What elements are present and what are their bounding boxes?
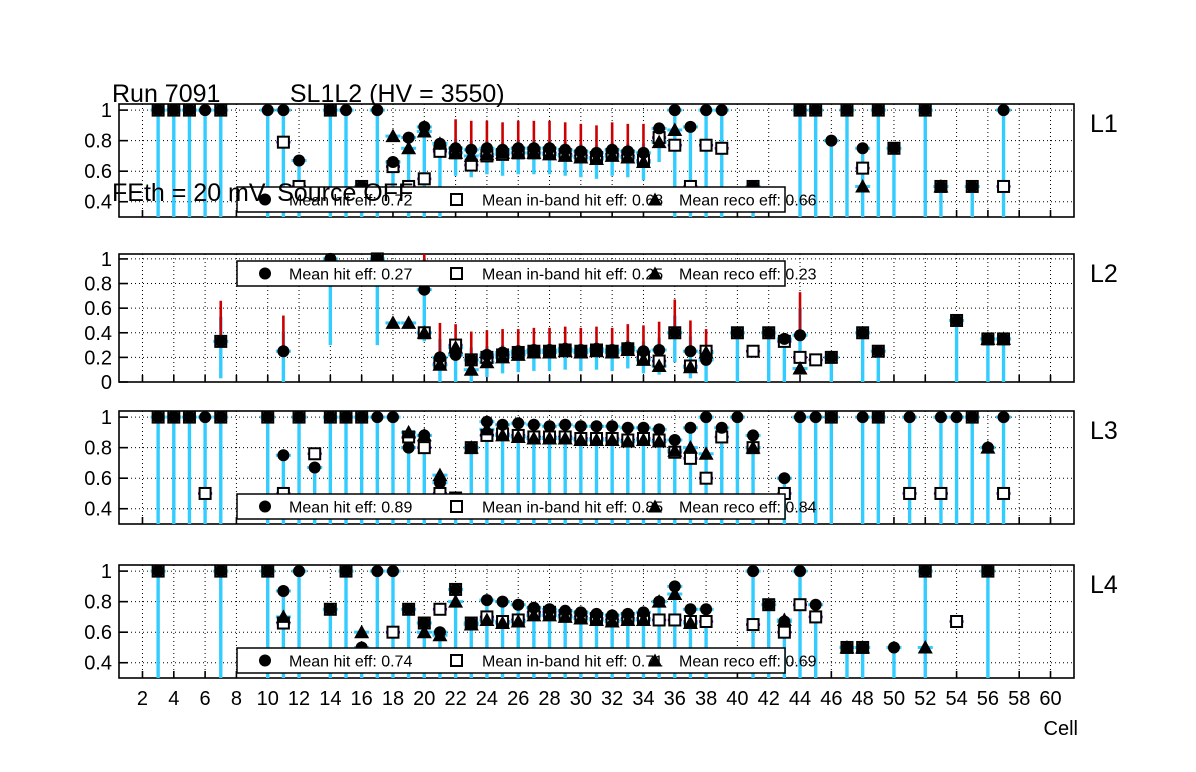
marker-filled-circle xyxy=(606,144,618,156)
y-tick-label: 0.8 xyxy=(84,438,112,460)
x-tick-label: 30 xyxy=(570,688,592,710)
marker-filled-circle xyxy=(465,442,477,454)
panel-l3: 0.40.60.81Mean hit eff: 0.89Mean in-band… xyxy=(84,407,1074,524)
legend-hit-label: Mean hit eff: 0.89 xyxy=(289,500,412,517)
marker-open-square xyxy=(685,453,696,464)
marker-filled-circle xyxy=(622,422,634,434)
marker-filled-circle xyxy=(434,477,446,489)
marker-filled-circle xyxy=(528,142,540,154)
marker-filled-circle xyxy=(951,411,963,423)
marker-filled-circle xyxy=(465,354,477,366)
y-tick-label: 1 xyxy=(101,407,112,429)
marker-filled-circle xyxy=(309,462,321,474)
marker-open-square xyxy=(309,448,320,459)
marker-filled-circle xyxy=(669,327,681,339)
marker-filled-circle xyxy=(810,411,822,423)
marker-filled-circle xyxy=(450,583,462,595)
marker-filled-circle xyxy=(277,585,289,597)
y-tick-label: 1 xyxy=(101,100,112,122)
y-tick-label: 0 xyxy=(101,372,112,394)
marker-filled-circle xyxy=(340,565,352,577)
marker-filled-circle xyxy=(262,411,274,423)
marker-filled-circle xyxy=(481,594,493,606)
y-tick-label: 0.8 xyxy=(84,131,112,153)
x-tick-label: 58 xyxy=(1008,688,1030,710)
y-tick-label: 0.8 xyxy=(84,274,112,296)
marker-filled-circle xyxy=(183,411,195,423)
marker-filled-circle xyxy=(277,449,289,461)
x-tick-label: 4 xyxy=(168,688,179,710)
marker-filled-circle xyxy=(966,411,978,423)
marker-filled-circle xyxy=(653,596,665,608)
marker-filled-circle xyxy=(716,104,728,116)
marker-filled-circle xyxy=(575,420,587,432)
x-tick-label: 52 xyxy=(914,688,936,710)
marker-filled-circle xyxy=(450,349,462,361)
marker-filled-circle xyxy=(512,142,524,154)
x-tick-label: 44 xyxy=(789,688,811,710)
marker-filled-circle xyxy=(825,351,837,363)
marker-filled-circle xyxy=(215,335,227,347)
marker-open-square xyxy=(200,488,211,499)
marker-filled-circle xyxy=(497,419,509,431)
marker-filled-circle xyxy=(559,605,571,617)
marker-filled-circle xyxy=(403,442,415,454)
x-tick-label: 18 xyxy=(382,688,404,710)
marker-filled-circle xyxy=(825,135,837,147)
marker-filled-circle xyxy=(606,420,618,432)
marker-filled-circle xyxy=(356,411,368,423)
marker-filled-circle xyxy=(512,417,524,429)
marker-filled-circle xyxy=(544,420,556,432)
marker-filled-circle xyxy=(387,565,399,577)
x-tick-label: 56 xyxy=(977,688,999,710)
marker-open-square xyxy=(387,627,398,638)
legend-l3: Mean hit eff: 0.89Mean in-band hit eff: … xyxy=(237,494,817,519)
marker-filled-circle xyxy=(653,344,665,356)
marker-open-square xyxy=(810,611,821,622)
marker-filled-circle xyxy=(669,580,681,592)
marker-open-square xyxy=(810,354,821,365)
marker-filled-circle xyxy=(731,411,743,423)
marker-open-square xyxy=(748,619,759,630)
legend-circle-icon xyxy=(259,501,271,513)
marker-filled-circle xyxy=(591,420,603,432)
marker-filled-circle xyxy=(293,411,305,423)
marker-filled-circle xyxy=(857,142,869,154)
marker-filled-circle xyxy=(716,422,728,434)
x-tick-label: 38 xyxy=(695,688,717,710)
marker-filled-circle xyxy=(262,565,274,577)
x-tick-label: 22 xyxy=(444,688,466,710)
y-tick-label: 0.6 xyxy=(84,622,112,644)
marker-filled-circle xyxy=(622,608,634,620)
marker-filled-circle xyxy=(778,333,790,345)
marker-filled-circle xyxy=(794,104,806,116)
legend-square-icon xyxy=(451,655,462,666)
marker-open-square xyxy=(669,614,680,625)
marker-filled-circle xyxy=(763,327,775,339)
marker-open-square xyxy=(669,140,680,151)
legend-inband-label: Mean in-band hit eff: 0.68 xyxy=(482,193,663,210)
marker-filled-circle xyxy=(481,349,493,361)
marker-filled-circle xyxy=(747,565,759,577)
y-tick-label: 0.6 xyxy=(84,161,112,183)
y-tick-label: 0.4 xyxy=(84,499,112,521)
marker-filled-circle xyxy=(591,147,603,159)
marker-filled-circle xyxy=(340,411,352,423)
marker-open-square xyxy=(716,143,727,154)
x-tick-label: 6 xyxy=(200,688,211,710)
marker-open-square xyxy=(951,616,962,627)
marker-open-square xyxy=(904,488,915,499)
x-tick-label: 32 xyxy=(601,688,623,710)
marker-filled-circle xyxy=(763,599,775,611)
marker-open-square xyxy=(434,604,445,615)
marker-filled-circle xyxy=(810,104,822,116)
title-line-1: Run 7091 SL1L2 (HV = 3550) xyxy=(112,78,505,111)
marker-filled-circle xyxy=(637,422,649,434)
marker-filled-circle xyxy=(418,617,430,629)
marker-filled-circle xyxy=(825,411,837,423)
marker-filled-circle xyxy=(606,344,618,356)
marker-filled-circle xyxy=(778,472,790,484)
marker-filled-circle xyxy=(622,342,634,354)
x-tick-label: 10 xyxy=(257,688,279,710)
marker-filled-circle xyxy=(794,411,806,423)
marker-filled-circle xyxy=(794,565,806,577)
marker-filled-circle xyxy=(888,142,900,154)
x-tick-label: 24 xyxy=(476,688,498,710)
marker-filled-circle xyxy=(919,104,931,116)
marker-filled-circle xyxy=(794,329,806,341)
x-tick-label: 34 xyxy=(632,688,654,710)
marker-filled-circle xyxy=(872,411,884,423)
marker-filled-circle xyxy=(465,617,477,629)
x-tick-label: 42 xyxy=(758,688,780,710)
x-tick-label: 14 xyxy=(319,688,341,710)
marker-filled-circle xyxy=(575,145,587,157)
marker-filled-circle xyxy=(544,344,556,356)
marker-filled-circle xyxy=(684,603,696,615)
marker-filled-circle xyxy=(497,346,509,358)
x-tick-label: 46 xyxy=(820,688,842,710)
marker-filled-circle xyxy=(700,354,712,366)
panel-label-l1: L1 xyxy=(1090,110,1118,138)
x-tick-label: 12 xyxy=(288,688,310,710)
marker-open-square xyxy=(701,473,712,484)
marker-filled-circle xyxy=(497,596,509,608)
marker-filled-circle xyxy=(998,104,1010,116)
x-tick-label: 2 xyxy=(137,688,148,710)
y-tick-label: 0.6 xyxy=(84,468,112,490)
marker-open-square xyxy=(998,181,1009,192)
marker-filled-circle xyxy=(575,344,587,356)
marker-filled-circle xyxy=(841,641,853,653)
panel-label-l4: L4 xyxy=(1090,571,1118,599)
marker-filled-circle xyxy=(857,327,869,339)
marker-filled-circle xyxy=(919,565,931,577)
x-tick-label: 20 xyxy=(413,688,435,710)
marker-filled-circle xyxy=(152,411,164,423)
marker-filled-circle xyxy=(559,343,571,355)
marker-filled-circle xyxy=(810,599,822,611)
marker-filled-circle xyxy=(731,327,743,339)
marker-filled-circle xyxy=(935,411,947,423)
legend-reco-label: Mean reco eff: 0.66 xyxy=(679,193,817,210)
title-line-2: FEth = 20 mV, Source OFF xyxy=(112,177,505,210)
marker-filled-circle xyxy=(371,411,383,423)
marker-filled-circle xyxy=(637,147,649,159)
x-tick-label: 54 xyxy=(945,688,967,710)
marker-filled-circle xyxy=(700,104,712,116)
marker-open-square xyxy=(779,627,790,638)
marker-filled-circle xyxy=(528,602,540,614)
marker-filled-circle xyxy=(637,345,649,357)
marker-filled-circle xyxy=(669,434,681,446)
marker-filled-circle xyxy=(387,411,399,423)
marker-filled-circle xyxy=(653,423,665,435)
marker-filled-circle xyxy=(371,565,383,577)
legend-hit-label: Mean hit eff: 0.74 xyxy=(289,654,412,671)
marker-filled-circle xyxy=(528,419,540,431)
marker-open-square xyxy=(935,488,946,499)
marker-filled-circle xyxy=(324,411,336,423)
legend-reco-label: Mean reco eff: 0.84 xyxy=(679,500,817,517)
plot-canvas: Run 7091 SL1L2 (HV = 3550) FEth = 20 mV,… xyxy=(0,0,1196,772)
marker-open-square xyxy=(701,616,712,627)
legend-reco-label: Mean reco eff: 0.23 xyxy=(679,267,817,284)
marker-filled-circle xyxy=(544,603,556,615)
marker-filled-circle xyxy=(559,419,571,431)
marker-filled-circle xyxy=(434,626,446,638)
x-tick-label: 36 xyxy=(664,688,686,710)
marker-filled-circle xyxy=(841,104,853,116)
y-tick-label: 0.4 xyxy=(84,653,112,675)
marker-filled-circle xyxy=(998,411,1010,423)
legend-reco-label: Mean reco eff: 0.69 xyxy=(679,654,817,671)
legend-inband-label: Mean in-band hit eff: 0.25 xyxy=(482,267,663,284)
y-tick-label: 0.4 xyxy=(84,192,112,214)
marker-filled-circle xyxy=(324,603,336,615)
marker-filled-circle xyxy=(403,603,415,615)
x-tick-label: 28 xyxy=(538,688,560,710)
marker-open-square xyxy=(701,140,712,151)
marker-filled-circle xyxy=(591,608,603,620)
marker-filled-circle xyxy=(700,411,712,423)
legend-inband-label: Mean in-band hit eff: 0.85 xyxy=(482,500,663,517)
marker-filled-circle xyxy=(904,411,916,423)
y-tick-label: 0.2 xyxy=(84,347,112,369)
marker-filled-circle xyxy=(512,345,524,357)
marker-filled-circle xyxy=(606,609,618,621)
marker-filled-circle xyxy=(277,345,289,357)
marker-filled-circle xyxy=(215,565,227,577)
marker-filled-circle xyxy=(935,180,947,192)
y-tick-label: 0.6 xyxy=(84,298,112,320)
marker-filled-circle xyxy=(872,345,884,357)
marker-filled-circle xyxy=(434,351,446,363)
x-tick-label: 40 xyxy=(726,688,748,710)
marker-open-square xyxy=(748,346,759,357)
marker-filled-circle xyxy=(951,314,963,326)
marker-filled-circle xyxy=(888,641,900,653)
panel-label-l2: L2 xyxy=(1090,260,1118,288)
marker-filled-circle xyxy=(199,411,211,423)
legend-square-icon xyxy=(451,501,462,512)
marker-filled-circle xyxy=(168,411,180,423)
marker-filled-circle xyxy=(966,180,978,192)
marker-filled-circle xyxy=(559,144,571,156)
marker-filled-circle xyxy=(575,606,587,618)
marker-filled-circle xyxy=(591,343,603,355)
plot-title: Run 7091 SL1L2 (HV = 3550) FEth = 20 mV,… xyxy=(112,12,505,276)
marker-open-square xyxy=(857,163,868,174)
y-tick-label: 0.4 xyxy=(84,323,112,345)
marker-filled-circle xyxy=(544,142,556,154)
legend-inband-label: Mean in-band hit eff: 0.71 xyxy=(482,654,663,671)
x-tick-label: 8 xyxy=(231,688,242,710)
marker-filled-circle xyxy=(669,104,681,116)
y-tick-label: 1 xyxy=(101,561,112,583)
marker-open-square xyxy=(795,599,806,610)
marker-filled-circle xyxy=(528,344,540,356)
x-tick-label: 48 xyxy=(852,688,874,710)
x-tick-label: 16 xyxy=(351,688,373,710)
marker-filled-circle xyxy=(481,416,493,428)
y-tick-label: 1 xyxy=(101,249,112,271)
marker-filled-circle xyxy=(512,599,524,611)
x-tick-label: 60 xyxy=(1039,688,1061,710)
marker-filled-circle xyxy=(747,429,759,441)
panel-label-l3: L3 xyxy=(1090,417,1118,445)
marker-open-square xyxy=(998,488,1009,499)
marker-filled-circle xyxy=(684,422,696,434)
panel-l4: 0.40.60.81246810121416182022242628303234… xyxy=(84,561,1078,740)
marker-filled-circle xyxy=(982,333,994,345)
marker-filled-circle xyxy=(152,565,164,577)
marker-filled-circle xyxy=(778,616,790,628)
marker-filled-circle xyxy=(418,429,430,441)
marker-filled-circle xyxy=(653,122,665,134)
legend-l4: Mean hit eff: 0.74Mean in-band hit eff: … xyxy=(237,648,817,673)
x-axis-title: Cell xyxy=(1044,718,1078,740)
marker-filled-circle xyxy=(622,145,634,157)
x-tick-label: 50 xyxy=(883,688,905,710)
x-tick-label: 26 xyxy=(507,688,529,710)
marker-filled-circle xyxy=(700,603,712,615)
marker-filled-circle xyxy=(215,411,227,423)
marker-filled-circle xyxy=(982,442,994,454)
marker-filled-circle xyxy=(857,411,869,423)
marker-filled-circle xyxy=(857,641,869,653)
y-tick-label: 0.8 xyxy=(84,592,112,614)
marker-open-square xyxy=(654,614,665,625)
marker-filled-circle xyxy=(684,121,696,133)
marker-filled-circle xyxy=(684,345,696,357)
marker-filled-circle xyxy=(872,104,884,116)
marker-filled-circle xyxy=(293,565,305,577)
marker-open-square xyxy=(419,442,430,453)
legend-circle-icon xyxy=(259,655,271,667)
marker-filled-circle xyxy=(637,606,649,618)
marker-filled-circle xyxy=(998,333,1010,345)
marker-filled-circle xyxy=(982,565,994,577)
